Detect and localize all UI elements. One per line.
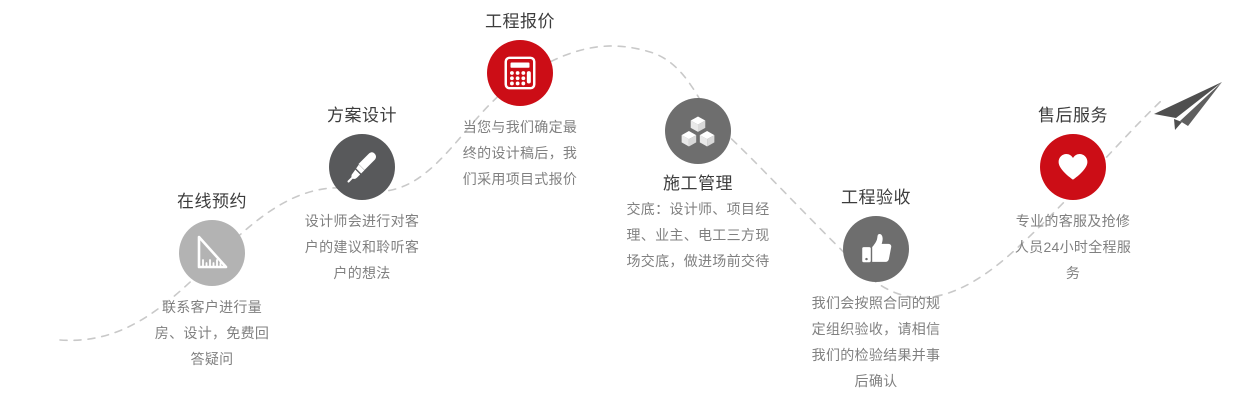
thumbs-up-icon: [857, 230, 895, 268]
step-6-desc-line: 务: [992, 260, 1154, 286]
step-6[interactable]: 售后服务 专业的客服及抢修 人员24小时全程服 务: [988, 104, 1158, 286]
step-2-icon-circle[interactable]: [329, 134, 395, 200]
step-1-desc-line: 联系客户进行量: [131, 294, 293, 320]
step-5-desc-line: 后确认: [786, 368, 966, 394]
step-1-desc-line: 房、设计，免费回: [131, 320, 293, 346]
fountain-pen-icon: [342, 147, 382, 187]
step-3-icon-wrap: [435, 40, 605, 106]
step-2-icon-wrap: [277, 134, 447, 200]
step-1[interactable]: 在线预约 联系客户进行量 房、设计，免费回 答疑: [127, 190, 297, 372]
end-marker: [1148, 78, 1228, 140]
step-3[interactable]: 工程报价: [435, 10, 605, 192]
step-5-desc-line: 我们的检验结果并事: [786, 342, 966, 368]
step-1-desc: 联系客户进行量 房、设计，免费回 答疑问: [127, 294, 297, 372]
step-5-icon-wrap: [782, 216, 970, 282]
step-4-desc-line: 场交底，做进场前交待: [604, 248, 792, 274]
step-6-icon-circle[interactable]: [1040, 134, 1106, 200]
step-2-title: 方案设计: [277, 104, 447, 128]
step-6-desc-line: 人员24小时全程服: [992, 234, 1154, 260]
step-4-desc: 交底：设计师、项目经 理、业主、电工三方现 场交底，做进场前交待: [600, 196, 796, 274]
paper-plane-icon: [1148, 78, 1228, 140]
step-5-title: 工程验收: [782, 186, 970, 210]
step-5-icon-circle[interactable]: [843, 216, 909, 282]
step-6-desc: 专业的客服及抢修 人员24小时全程服 务: [988, 208, 1158, 286]
calculator-icon: [501, 54, 539, 92]
step-3-desc-line: 终的设计稿后，我: [439, 140, 601, 166]
step-3-icon-circle[interactable]: [487, 40, 553, 106]
step-1-desc-line: 答疑问: [131, 346, 293, 372]
step-2-desc-line: 户的建议和聆听客: [281, 234, 443, 260]
step-5-desc: 我们会按照合同的规 定组织验收，请相信 我们的检验结果并事 后确认: [782, 290, 970, 394]
step-4-title: 施工管理: [600, 172, 796, 196]
step-4-icon-wrap: [600, 98, 796, 164]
step-1-icon-wrap: [127, 220, 297, 286]
process-flow-diagram: 在线预约 联系客户进行量 房、设计，免费回 答疑: [0, 0, 1245, 402]
step-5[interactable]: 工程验收 我们会按照合同的规 定组织验收，请相信 我们的检验结果并事 后确认: [782, 186, 970, 394]
heart-icon: [1055, 149, 1091, 185]
step-4-desc-line: 理、业主、电工三方现: [604, 222, 792, 248]
blocks-cubes-icon: [678, 111, 718, 151]
step-5-desc-line: 定组织验收，请相信: [786, 316, 966, 342]
step-3-title: 工程报价: [435, 10, 605, 34]
step-3-desc-line: 们采用项目式报价: [439, 166, 601, 192]
step-6-icon-wrap: [988, 134, 1158, 200]
step-2[interactable]: 方案设计 设计师会进行对客 户的建议和聆听客 户的想法: [277, 104, 447, 286]
step-1-title: 在线预约: [127, 190, 297, 214]
step-2-desc-line: 设计师会进行对客: [281, 208, 443, 234]
step-4[interactable]: 施工管理 交底：设计师、项目经 理、业主、电工三方现 场交底，做进场前交待: [600, 92, 796, 274]
step-3-desc-line: 当您与我们确定最: [439, 114, 601, 140]
step-4-desc-line: 交底：设计师、项目经: [604, 196, 792, 222]
ruler-triangle-icon: [192, 233, 232, 273]
step-5-desc-line: 我们会按照合同的规: [786, 290, 966, 316]
step-6-title: 售后服务: [988, 104, 1158, 128]
step-4-icon-circle[interactable]: [665, 98, 731, 164]
step-2-desc-line: 户的想法: [281, 260, 443, 286]
step-6-desc-line: 专业的客服及抢修: [992, 208, 1154, 234]
step-3-desc: 当您与我们确定最 终的设计稿后，我 们采用项目式报价: [435, 114, 605, 192]
step-1-icon-circle[interactable]: [179, 220, 245, 286]
step-2-desc: 设计师会进行对客 户的建议和聆听客 户的想法: [277, 208, 447, 286]
